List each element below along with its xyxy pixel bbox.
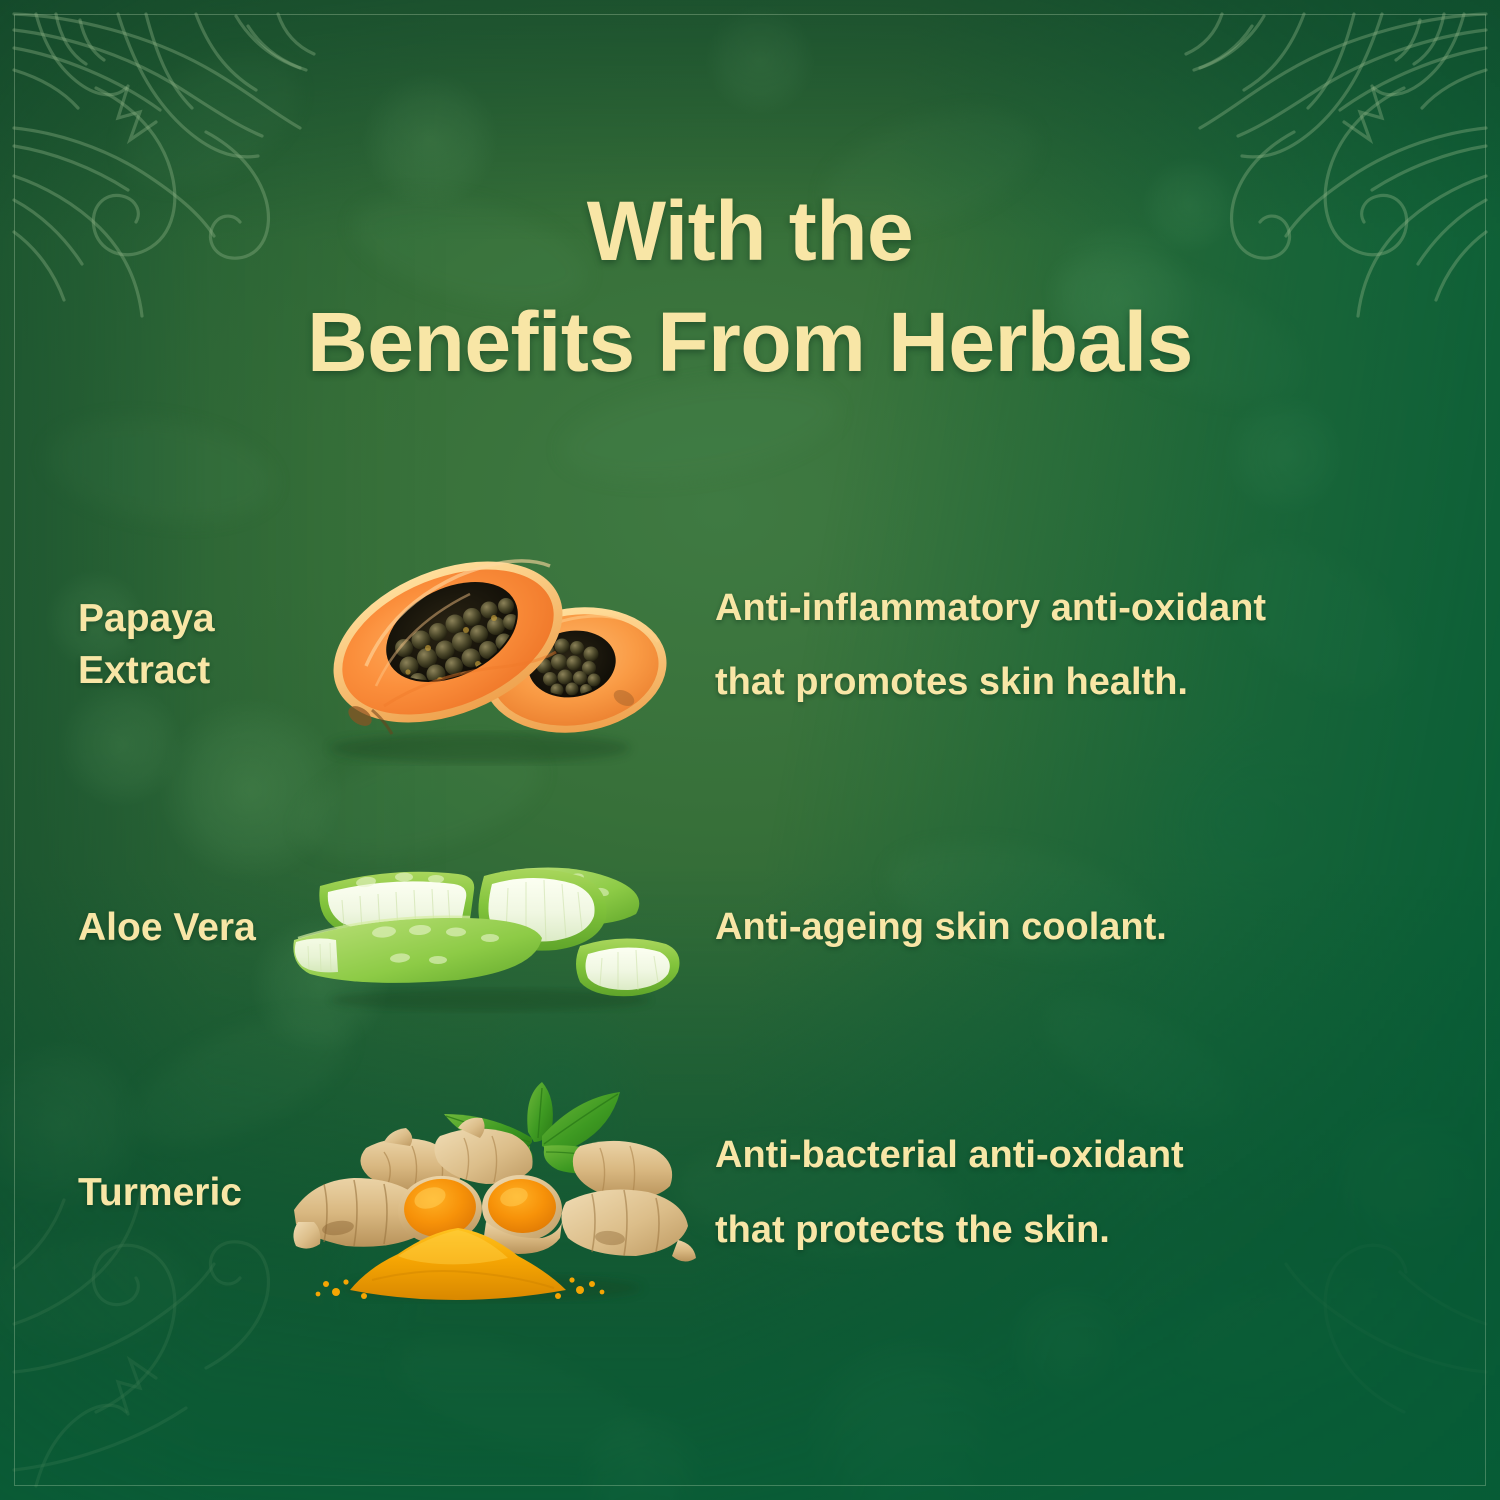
turmeric-image [280,1080,700,1305]
ingredient-description-turmeric: Anti-bacterial anti-oxidant that protect… [700,1118,1500,1266]
ingredient-row-aloe-vera: Aloe Vera [0,840,1500,1015]
page-title: With the Benefits From Herbals [0,176,1500,398]
ingredient-name-papaya: Papaya Extract [0,593,280,697]
turmeric-root-right [561,1190,696,1262]
ingredient-name-aloe-vera: Aloe Vera [0,902,280,954]
aloe-vera-image [280,840,700,1015]
ingredient-row-papaya: Papaya Extract [0,520,1500,770]
ingredient-description-aloe-vera: Anti-ageing skin coolant. [700,890,1500,964]
ingredient-name-turmeric: Turmeric [0,1167,280,1219]
ingredient-description-papaya: Anti-inflammatory anti-oxidant that prom… [700,571,1500,719]
papaya-image [280,520,700,770]
ingredient-row-turmeric: Turmeric [0,1080,1500,1305]
herbal-benefits-poster: With the Benefits From Herbals Papaya Ex… [0,0,1500,1500]
